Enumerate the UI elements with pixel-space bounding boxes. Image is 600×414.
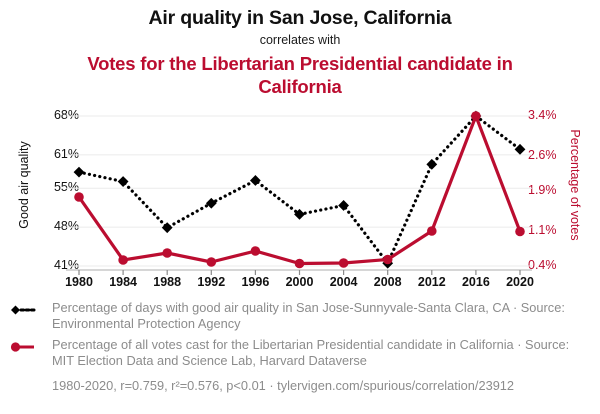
solid-circle-marker-icon: [4, 341, 48, 353]
data-point-marker: [471, 111, 481, 121]
page-title: Air quality in San Jose, California: [0, 7, 600, 29]
data-point-marker: [383, 255, 393, 265]
data-point-marker: [426, 159, 437, 170]
series-line: [79, 116, 520, 263]
plot-svg: [0, 100, 600, 300]
x-axis-tick-label: 1984: [99, 275, 147, 289]
data-point-marker: [250, 175, 261, 186]
x-axis-tick-label: 2012: [408, 275, 456, 289]
x-axis-tick-label: 1992: [187, 275, 235, 289]
legend-footer: 1980-2020, r=0.759, r²=0.576, p<0.01 · t…: [0, 377, 600, 395]
data-point-marker: [251, 246, 261, 256]
data-point-marker: [118, 176, 129, 187]
legend-label-air-quality: Percentage of days with good air quality…: [52, 300, 586, 331]
x-axis-tick-label: 2016: [452, 275, 500, 289]
data-point-marker: [295, 259, 305, 269]
data-point-marker: [74, 192, 84, 202]
x-axis-tick-label: 1988: [143, 275, 191, 289]
data-point-marker: [162, 222, 173, 233]
correlation-stats-text: 1980-2020, r=0.759, r²=0.576, p<0.01 · t…: [52, 378, 514, 393]
data-point-marker: [162, 248, 172, 258]
chart-area: Good air quality Percentage of votes 41%…: [0, 100, 600, 300]
data-point-marker: [515, 144, 526, 155]
x-axis-tick-label: 2004: [320, 275, 368, 289]
legend-label-votes: Percentage of all votes cast for the Lib…: [52, 337, 586, 368]
data-point-marker: [118, 255, 128, 265]
title-connector: correlates with: [0, 31, 600, 49]
chart-legend: Percentage of days with good air quality…: [0, 300, 600, 395]
data-point-marker: [74, 167, 85, 178]
page-subtitle: Votes for the Libertarian Presidential c…: [0, 52, 600, 98]
data-point-marker: [207, 257, 217, 267]
title-block: Air quality in San Jose, California corr…: [0, 0, 600, 98]
legend-item-votes: Percentage of all votes cast for the Lib…: [0, 337, 600, 368]
data-point-marker: [515, 227, 525, 237]
x-axis-tick-label: 2000: [276, 275, 324, 289]
data-point-marker: [338, 200, 349, 211]
x-axis-tick-label: 1996: [231, 275, 279, 289]
data-point-marker: [339, 258, 349, 268]
x-axis-tick-label: 1980: [55, 275, 103, 289]
x-axis-tick-label: 2008: [364, 275, 412, 289]
x-axis-tick-label: 2020: [496, 275, 544, 289]
dotted-diamond-marker-icon: [4, 304, 48, 316]
data-point-marker: [427, 226, 437, 236]
chart-page: Air quality in San Jose, California corr…: [0, 0, 600, 414]
legend-item-air-quality: Percentage of days with good air quality…: [0, 300, 600, 331]
